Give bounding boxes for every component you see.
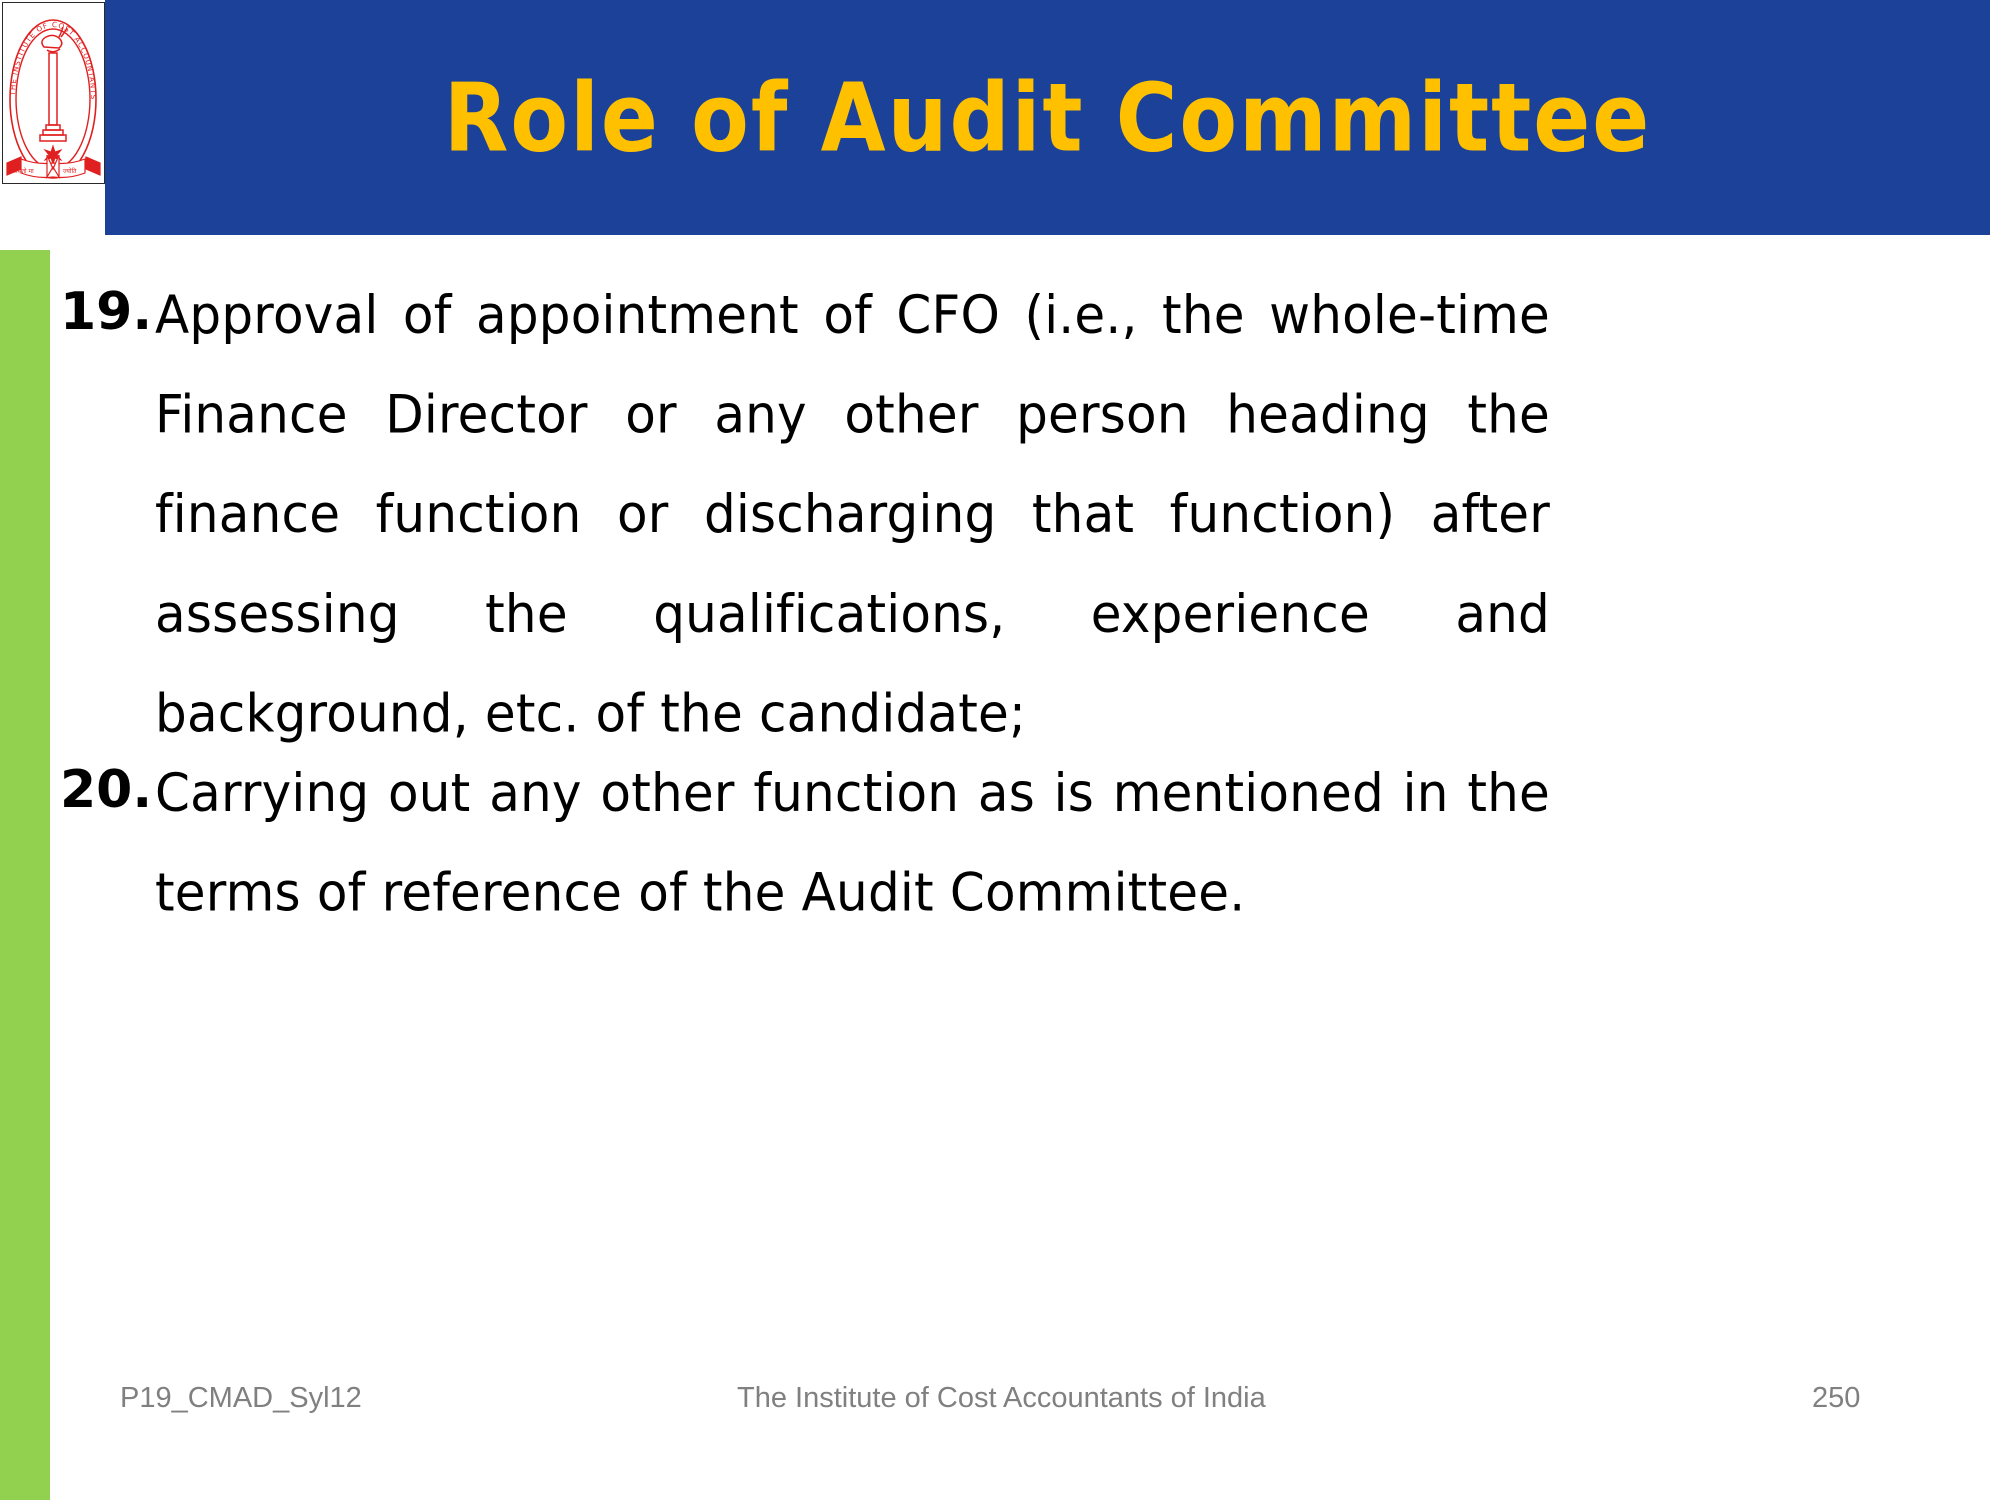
page-title: Role of Audit Committee bbox=[424, 70, 1671, 164]
svg-text:ज्योति: ज्योति bbox=[63, 167, 77, 175]
left-green-accent-bar bbox=[0, 250, 50, 1500]
list-item-text: Carrying out any other function as is me… bbox=[155, 743, 1550, 942]
svg-text:असतो मा: असतो मा bbox=[13, 167, 34, 175]
list-item-number: 20. bbox=[60, 743, 155, 837]
slide-canvas: Role of Audit Committee THE INSTITUTE OF… bbox=[0, 0, 1990, 1500]
footer-organisation-name: The Institute of Cost Accountants of Ind… bbox=[737, 1378, 1266, 1418]
footer: P19_CMAD_Syl12 The Institute of Cost Acc… bbox=[0, 1378, 1990, 1428]
list-item: 20. Carrying out any other function as i… bbox=[60, 743, 1550, 931]
slide-body: 19. Approval of appointment of CFO (i.e.… bbox=[60, 265, 1950, 1315]
list-item-text: Approval of appointment of CFO (i.e., th… bbox=[155, 265, 1550, 763]
institute-logo: THE INSTITUTE OF COST ACCOUNTANTS OF IND… bbox=[2, 2, 105, 184]
list-item: 19. Approval of appointment of CFO (i.e.… bbox=[60, 265, 1550, 735]
footer-page-number: 250 bbox=[1812, 1378, 1860, 1418]
institute-seal-icon: THE INSTITUTE OF COST ACCOUNTANTS OF IND… bbox=[3, 3, 104, 183]
list-item-number: 19. bbox=[60, 265, 155, 359]
footer-document-code: P19_CMAD_Syl12 bbox=[120, 1378, 362, 1418]
title-band: Role of Audit Committee bbox=[105, 0, 1990, 235]
